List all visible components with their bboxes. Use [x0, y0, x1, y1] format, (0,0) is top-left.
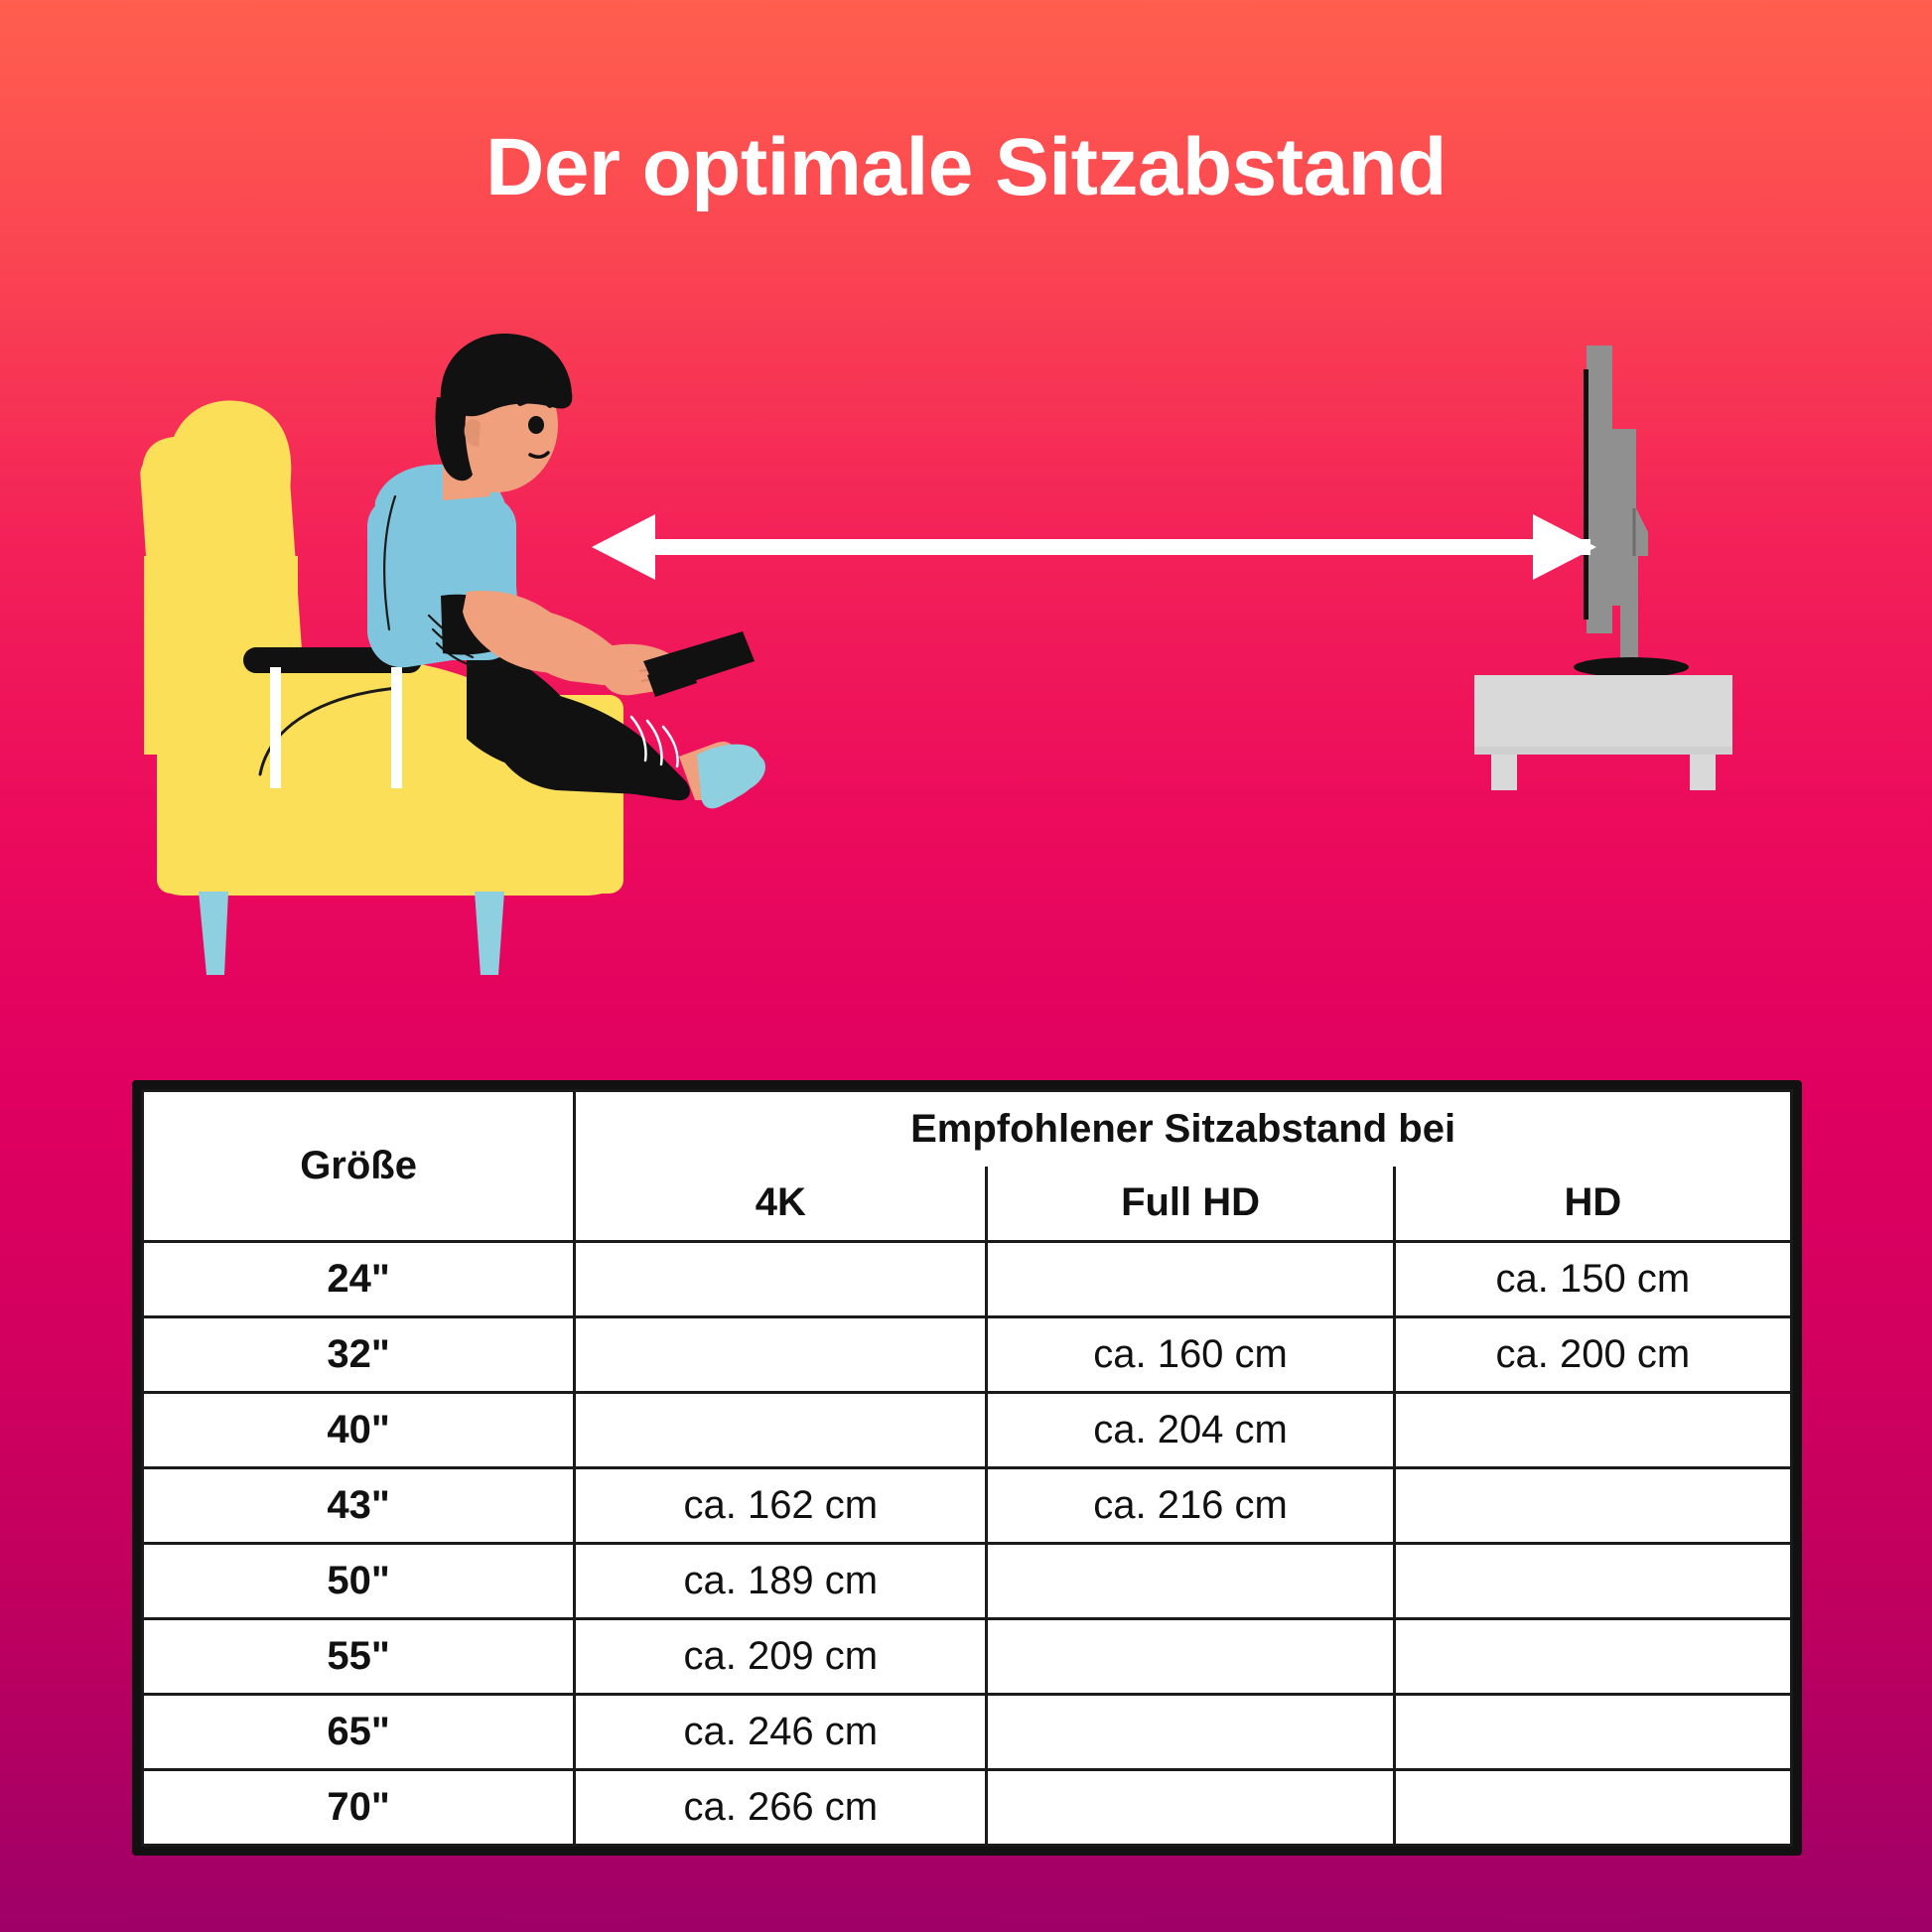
cell-hd: [1394, 1695, 1791, 1770]
tv-cabinet: [1474, 675, 1732, 755]
cell-size: 70": [143, 1770, 575, 1846]
stool-leg-left: [270, 667, 281, 788]
cell-size: 24": [143, 1242, 575, 1317]
person-sitting-in-armchair: [367, 334, 765, 808]
cell-hd: [1394, 1393, 1791, 1468]
table-row: 40" ca. 204 cm: [143, 1393, 1792, 1468]
head: [435, 357, 558, 492]
cell-size: 50": [143, 1544, 575, 1619]
cell-size: 43": [143, 1468, 575, 1544]
distance-arrow: [592, 514, 1596, 580]
stool-leg-right: [391, 667, 402, 788]
cell-hd: [1394, 1544, 1791, 1619]
cell-size: 55": [143, 1619, 575, 1695]
hand: [602, 644, 684, 695]
cell-size: 65": [143, 1695, 575, 1770]
hair: [441, 334, 573, 416]
cell-size: 32": [143, 1317, 575, 1393]
tv-stand-foot: [1574, 657, 1689, 677]
cell-hd: ca. 200 cm: [1394, 1317, 1791, 1393]
cell-hd: [1394, 1770, 1791, 1846]
cell-fullhd: ca. 204 cm: [987, 1393, 1394, 1468]
table-body: 24" ca. 150 cm 32" ca. 160 cm ca. 200 cm…: [143, 1242, 1792, 1846]
cell-4k: [575, 1242, 987, 1317]
cabinet-leg-right: [1690, 755, 1716, 790]
table-row: 50" ca. 189 cm: [143, 1544, 1792, 1619]
tv-screen-edge: [1584, 369, 1588, 620]
arm: [463, 591, 620, 681]
table-row: 43" ca. 162 cm ca. 216 cm: [143, 1468, 1792, 1544]
table-row: 55" ca. 209 cm: [143, 1619, 1792, 1695]
arrow-head-right: [1533, 514, 1596, 580]
header-size: Größe: [143, 1091, 575, 1242]
cell-fullhd: ca. 160 cm: [987, 1317, 1394, 1393]
table-row: 32" ca. 160 cm ca. 200 cm: [143, 1317, 1792, 1393]
cell-4k: ca. 189 cm: [575, 1544, 987, 1619]
chair-leg-back: [199, 892, 228, 975]
table-row: 70" ca. 266 cm: [143, 1770, 1792, 1846]
television-on-cabinet: [1474, 345, 1732, 790]
cell-fullhd: [987, 1770, 1394, 1846]
table-row: 65" ca. 246 cm: [143, 1695, 1792, 1770]
header-hd: HD: [1394, 1167, 1791, 1242]
yellow-armchair: [139, 401, 623, 975]
cell-hd: ca. 150 cm: [1394, 1242, 1791, 1317]
tv-panel: [1587, 345, 1612, 633]
cell-4k: [575, 1317, 987, 1393]
cell-fullhd: [987, 1544, 1394, 1619]
chair-leg-front: [475, 892, 504, 975]
header-4k: 4K: [575, 1167, 987, 1242]
cell-fullhd: [987, 1695, 1394, 1770]
cell-4k: ca. 209 cm: [575, 1619, 987, 1695]
cabinet-leg-left: [1491, 755, 1517, 790]
eye: [528, 416, 544, 434]
cell-fullhd: [987, 1242, 1394, 1317]
arrow-head-left: [592, 514, 655, 580]
page-title: Der optimale Sitzabstand: [0, 127, 1932, 208]
tv-remote-control: [643, 631, 755, 697]
table-row: 24" ca. 150 cm: [143, 1242, 1792, 1317]
tv-stand-pole: [1620, 556, 1638, 675]
header-group-recommended-distance: Empfohlener Sitzabstand bei: [575, 1091, 1792, 1167]
header-full-hd: Full HD: [987, 1167, 1394, 1242]
seating-distance-table: Größe Empfohlener Sitzabstand bei 4K Ful…: [132, 1080, 1802, 1856]
cell-4k: ca. 266 cm: [575, 1770, 987, 1846]
cell-fullhd: ca. 216 cm: [987, 1468, 1394, 1544]
table-header: Größe Empfohlener Sitzabstand bei 4K Ful…: [143, 1091, 1792, 1242]
black-footstool: [243, 647, 422, 788]
cell-fullhd: [987, 1619, 1394, 1695]
cell-hd: [1394, 1468, 1791, 1544]
cell-size: 40": [143, 1393, 575, 1468]
cell-hd: [1394, 1619, 1791, 1695]
cell-4k: [575, 1393, 987, 1468]
cell-4k: ca. 246 cm: [575, 1695, 987, 1770]
stool-top: [243, 647, 422, 673]
shirt: [367, 465, 517, 667]
cell-4k: ca. 162 cm: [575, 1468, 987, 1544]
